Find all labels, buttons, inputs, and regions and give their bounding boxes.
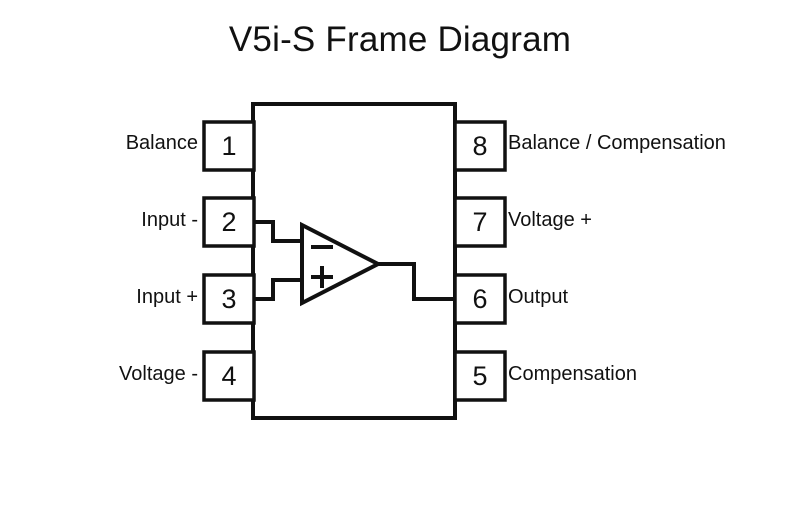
pin-number-6: 6 — [455, 275, 505, 323]
pin-label-5-compensation: Compensation — [508, 364, 637, 384]
pin-number-1: 1 — [204, 122, 254, 170]
pin-number-5: 5 — [455, 352, 505, 400]
chip-body-outline — [253, 104, 455, 418]
wire-pin3-to-noninverting-input — [254, 280, 302, 299]
wire-pin2-to-inverting-input — [254, 222, 302, 241]
pin-number-7: 7 — [455, 198, 505, 246]
pin-label-1-balance: Balance — [126, 133, 198, 153]
pin-number-3: 3 — [204, 275, 254, 323]
wire-output-to-pin6 — [378, 264, 455, 299]
pin-label-4-voltage-minus: Voltage - — [119, 364, 198, 384]
pin-label-3-input-plus: Input + — [136, 287, 198, 307]
pin-label-6-output: Output — [508, 287, 568, 307]
opamp-triangle — [302, 225, 378, 303]
schematic-drawing — [0, 0, 800, 518]
pin-number-4: 4 — [204, 352, 254, 400]
pin-label-2-input-minus: Input - — [141, 210, 198, 230]
pin-label-8-balance-compensation: Balance / Compensation — [508, 133, 726, 153]
diagram-canvas: V5i-S Frame Diagram 1 2 3 4 8 7 6 — [0, 0, 800, 518]
pin-number-2: 2 — [204, 198, 254, 246]
pin-number-8: 8 — [455, 122, 505, 170]
pin-label-7-voltage-plus: Voltage + — [508, 210, 592, 230]
